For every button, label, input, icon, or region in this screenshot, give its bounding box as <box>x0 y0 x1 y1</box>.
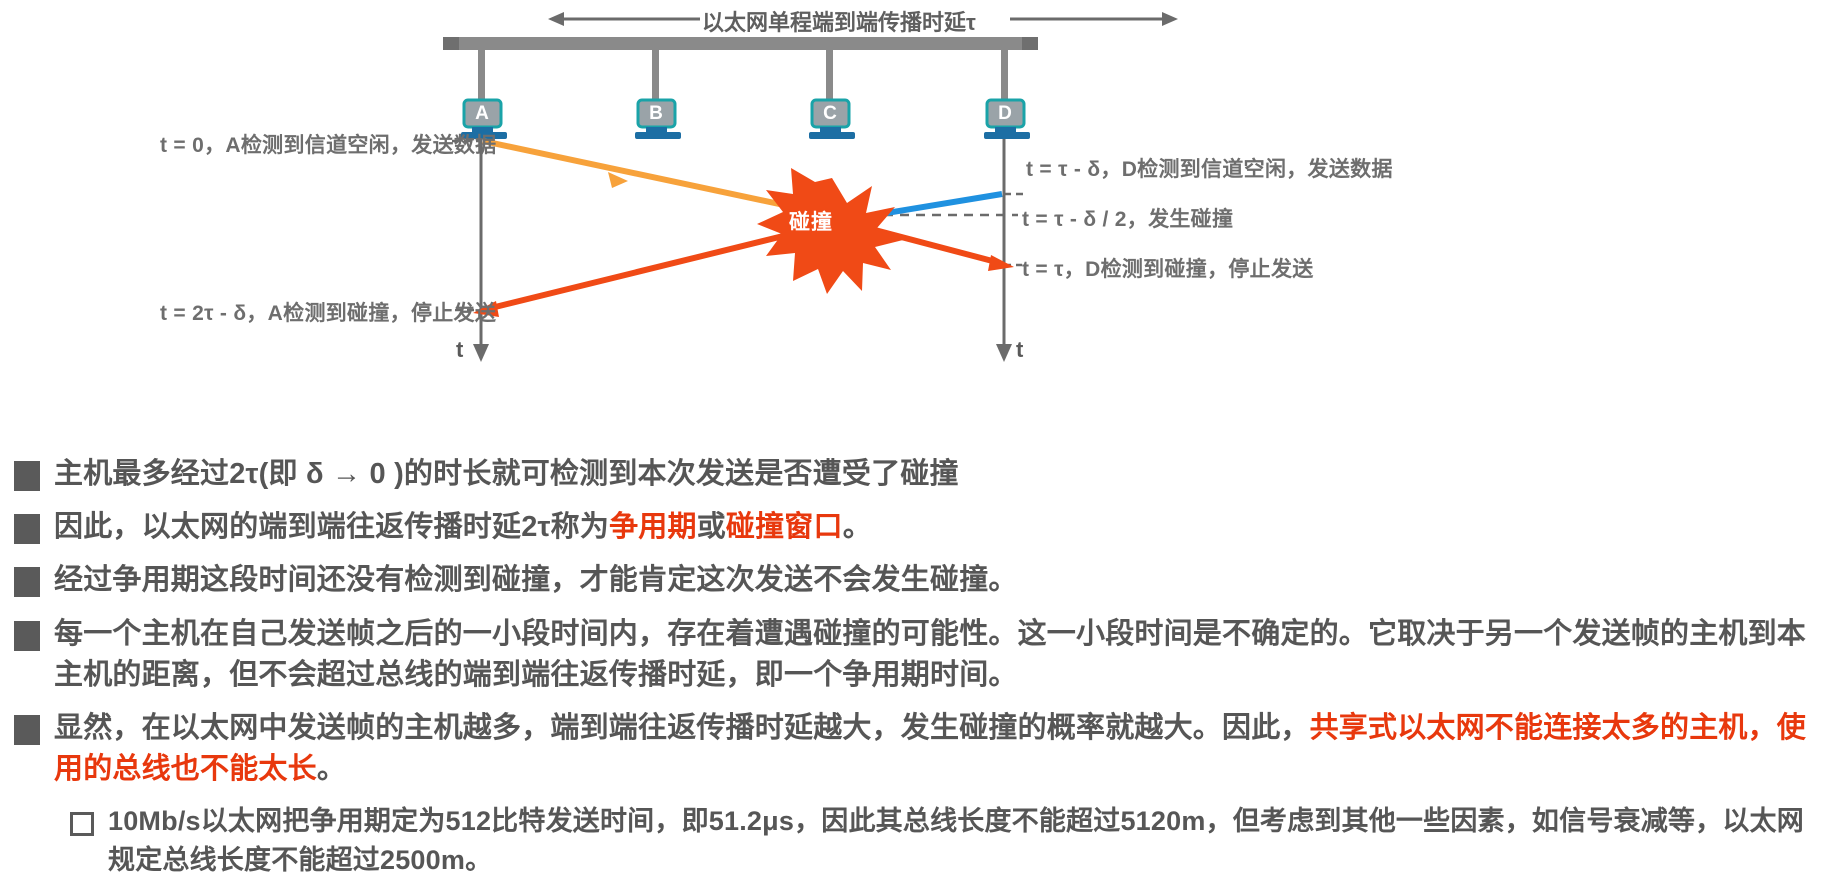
bullet-square-icon <box>14 621 40 651</box>
highlighted-phrase: 碰撞窗口 <box>726 511 843 543</box>
bus-drop-lines <box>478 50 1008 102</box>
event-label-d-send: t = τ - δ，D检测到信道空闲，发送数据 <box>1026 153 1393 183</box>
note-text: 显然，在以太网中发送帧的主机越多，端到端往返传播时延越大，发生碰撞的概率就越大。… <box>54 708 1816 790</box>
bullet-square-outline-icon <box>70 812 94 836</box>
note-text: 主机最多经过2τ(即 δ → 0 )的时长就可检测到本次发送是否遭受了碰撞 <box>54 454 959 495</box>
note-item: 显然，在以太网中发送帧的主机越多，端到端往返传播时延越大，发生碰撞的概率就越大。… <box>0 708 1830 790</box>
plain-phrase: 经过争用期这段时间还没有检测到碰撞，才能肯定这次发送不会发生碰撞。 <box>54 564 1018 596</box>
time-axis-a <box>473 139 489 362</box>
bullet-square-icon <box>14 461 40 491</box>
notes-list: 主机最多经过2τ(即 δ → 0 )的时长就可检测到本次发送是否遭受了碰撞因此，… <box>0 440 1830 869</box>
host-label-d: D <box>985 103 1025 125</box>
note-text: 因此，以太网的端到端往返传播时延2τ称为争用期或碰撞窗口。 <box>54 507 872 548</box>
time-axis-label-a: t <box>456 337 463 363</box>
plain-phrase: 。 <box>843 511 872 543</box>
event-label-d-detect: t = τ，D检测到碰撞，停止发送 <box>1022 253 1314 283</box>
diagram-canvas <box>0 0 1830 440</box>
bullet-square-icon <box>14 514 40 544</box>
plain-phrase: 或 <box>697 511 726 543</box>
note-text: 经过争用期这段时间还没有检测到碰撞，才能肯定这次发送不会发生碰撞。 <box>54 560 1018 601</box>
event-label-a-detect: t = 2τ - δ，A检测到碰撞，停止发送 <box>160 297 496 327</box>
plain-phrase: 因此，以太网的端到端往返传播时延2τ称为 <box>54 511 609 543</box>
time-axis-d <box>996 139 1012 362</box>
event-label-a-send: t = 0，A检测到信道空闲，发送数据 <box>160 129 496 159</box>
time-axis-label-d: t <box>1016 337 1023 363</box>
note-text: 每一个主机在自己发送帧之后的一小段时间内，存在着遭遇碰撞的可能性。这一小段时间是… <box>54 614 1816 696</box>
note-item: 经过争用期这段时间还没有检测到碰撞，才能肯定这次发送不会发生碰撞。 <box>0 560 1830 601</box>
plain-phrase: 显然，在以太网中发送帧的主机越多，端到端往返传播时延越大，发生碰撞的概率就越大。… <box>54 712 1310 744</box>
plain-phrase: 。 <box>317 753 346 785</box>
host-label-c: C <box>810 103 850 125</box>
host-label-a: A <box>462 103 502 125</box>
host-label-b: B <box>636 103 676 125</box>
timeline-diagram: 以太网单程端到端传播时延τ A B C D 碰撞 t = 0，A检测到信道空闲，… <box>0 0 1830 440</box>
bullet-square-icon <box>14 567 40 597</box>
ethernet-bus <box>443 37 1038 50</box>
event-label-collision: t = τ - δ / 2，发生碰撞 <box>1022 203 1233 233</box>
plain-phrase: 10Mb/s以太网把争用期定为512比特发送时间，即51.2μs，因此其总线长度… <box>108 806 1804 874</box>
tau-span-label: 以太网单程端到端传播时延τ <box>702 5 976 37</box>
note-text: 10Mb/s以太网把争用期定为512比特发送时间，即51.2μs，因此其总线长度… <box>108 802 1816 879</box>
plain-phrase: 每一个主机在自己发送帧之后的一小段时间内，存在着遭遇碰撞的可能性。这一小段时间是… <box>54 618 1806 691</box>
bullet-square-icon <box>14 715 40 745</box>
collision-label: 碰撞 <box>789 206 833 236</box>
note-item: 因此，以太网的端到端往返传播时延2τ称为争用期或碰撞窗口。 <box>0 507 1830 548</box>
note-item: 10Mb/s以太网把争用期定为512比特发送时间，即51.2μs，因此其总线长度… <box>0 802 1830 879</box>
highlighted-phrase: 争用期 <box>609 511 697 543</box>
note-item: 每一个主机在自己发送帧之后的一小段时间内，存在着遭遇碰撞的可能性。这一小段时间是… <box>0 614 1830 696</box>
plain-phrase: 主机最多经过2τ(即 δ → 0 )的时长就可检测到本次发送是否遭受了碰撞 <box>54 458 959 490</box>
note-item: 主机最多经过2τ(即 δ → 0 )的时长就可检测到本次发送是否遭受了碰撞 <box>0 454 1830 495</box>
